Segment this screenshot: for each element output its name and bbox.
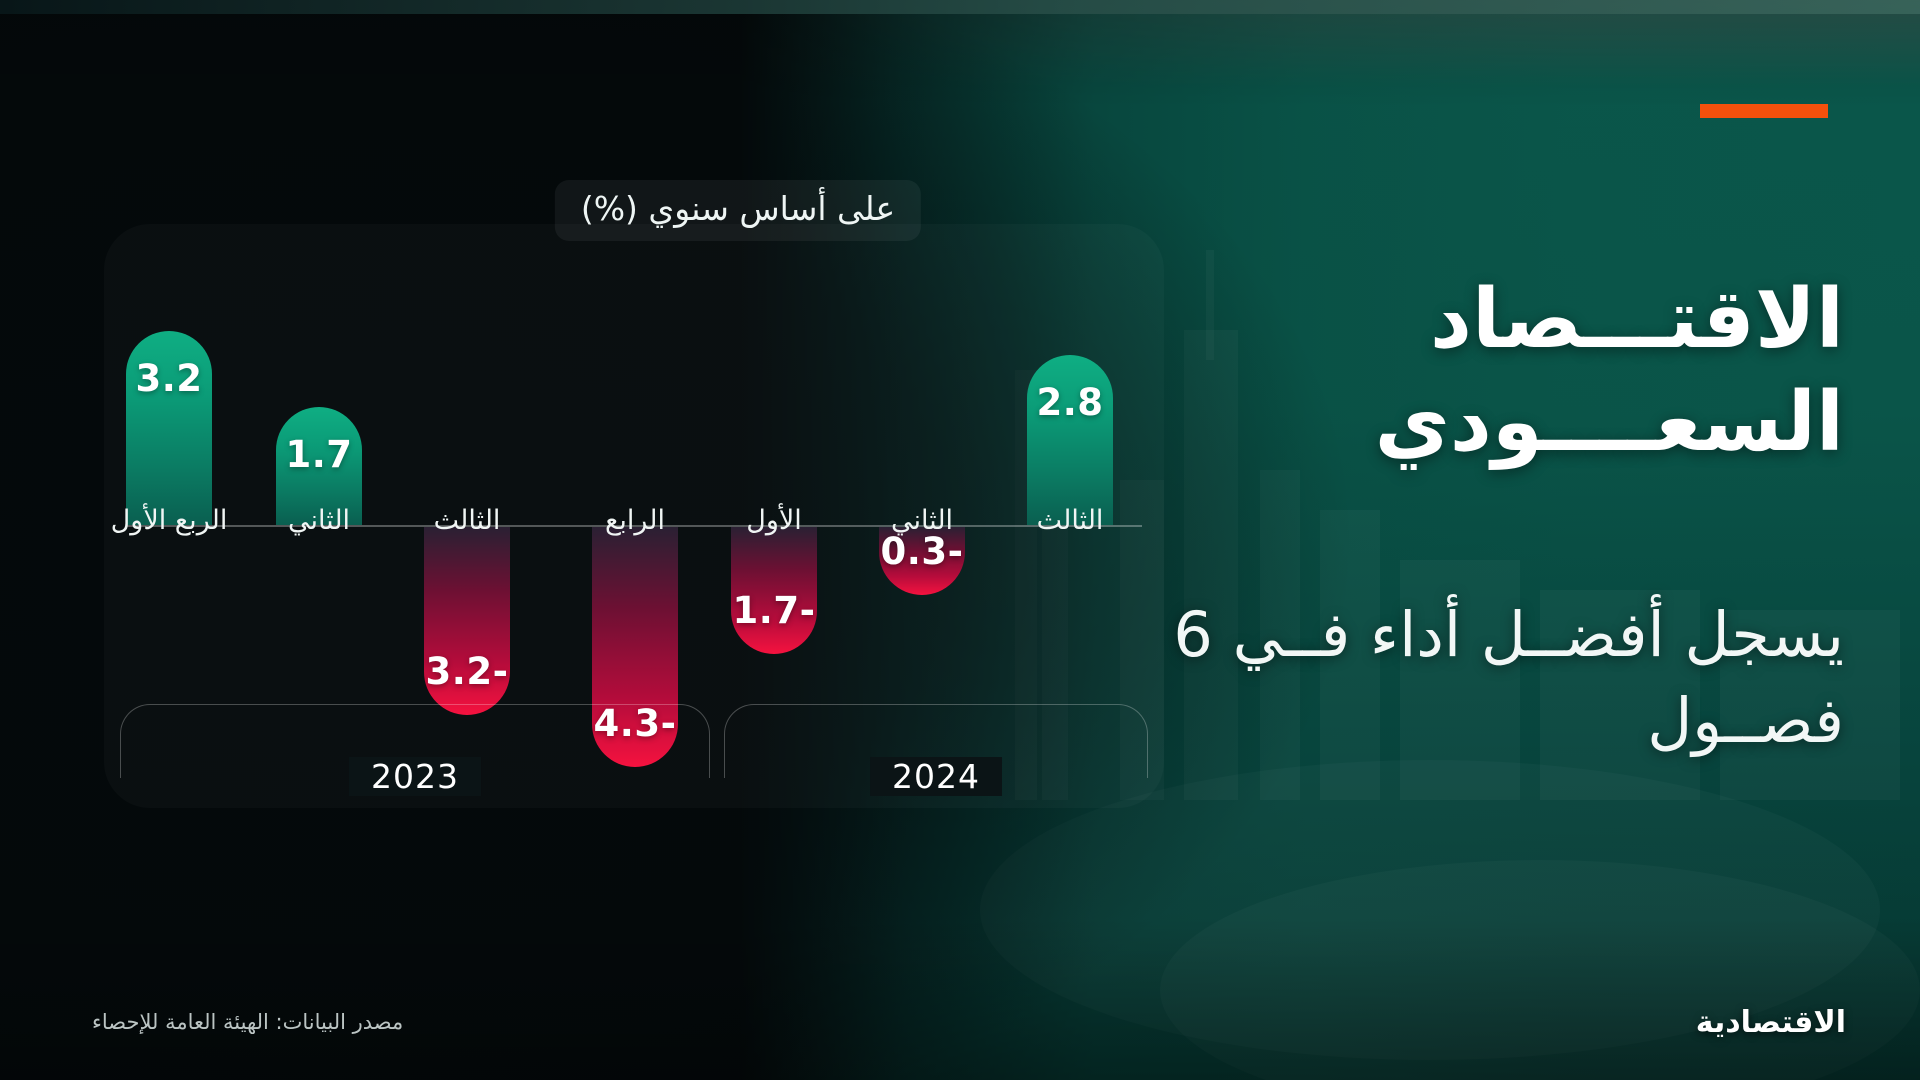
- quarter-label: الثالث: [400, 505, 534, 536]
- bar-value-label: 1.7: [276, 433, 362, 476]
- bar-value-label: 1.7-: [731, 589, 817, 632]
- year-label: 2023: [349, 757, 481, 796]
- bar-negative[interactable]: 3.2-: [424, 527, 510, 715]
- quarter-label: الثاني: [855, 505, 989, 536]
- bar-negative[interactable]: 1.7-: [731, 527, 817, 654]
- quarter-label: الرابع: [568, 505, 702, 536]
- data-source-note: مصدر البيانات: الهيئة العامة للإحصاء: [92, 1010, 403, 1034]
- bar-negative[interactable]: 0.3-: [879, 527, 965, 595]
- brand-logo: الاقتصادية: [1696, 1005, 1846, 1040]
- quarter-label: الثاني: [252, 505, 386, 536]
- bar-value-label: 3.2: [126, 357, 212, 400]
- top-edge-strip: [0, 0, 1920, 14]
- quarter-label: الأول: [707, 505, 841, 536]
- page-title: الاقتـــصاد السعــــودي: [1104, 268, 1844, 475]
- year-label: 2024: [870, 757, 1002, 796]
- bar-value-label: 0.3-: [879, 530, 965, 573]
- bar-positive[interactable]: 2.8: [1027, 355, 1113, 525]
- page-subtitle: يسجل أفضــل أداء فــي 6 فصــول: [1104, 592, 1844, 763]
- bar-value-label: 2.8: [1027, 381, 1113, 424]
- chart-panel: على أساس سنوي (%) 3.2 الربع الأول 1.7 ال…: [104, 224, 1164, 808]
- bar-positive[interactable]: 3.2: [126, 331, 212, 525]
- orange-accent-bar: [1700, 104, 1828, 118]
- infographic-canvas: الاقتـــصاد السعــــودي يسجل أفضــل أداء…: [0, 0, 1920, 1080]
- bar-value-label: 3.2-: [424, 650, 510, 693]
- quarter-label: الربع الأول: [102, 505, 236, 536]
- quarter-label: الثالث: [1003, 505, 1137, 536]
